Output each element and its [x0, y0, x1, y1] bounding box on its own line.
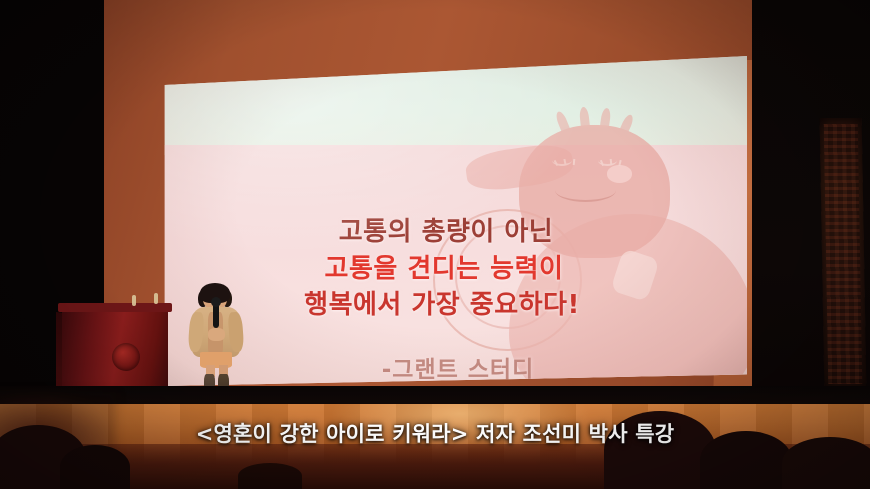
slide-line-2: 고통을 견디는 능력이 [325, 251, 564, 288]
podium [56, 303, 174, 395]
slide-line-3: 행복에서 가장 중요하다! [304, 287, 580, 324]
podium-object-right [154, 293, 158, 304]
slide-text-block: 고통의 총량이 아닌 고통을 견디는 능력이 행복에서 가장 중요하다! -그랜… [163, 56, 747, 386]
audience-head [700, 431, 792, 489]
podium-top-surface [58, 303, 172, 312]
podium-emblem [112, 343, 140, 371]
podium-object-left [132, 295, 136, 306]
projection-screen: 고통의 총량이 아닌 고통을 견디는 능력이 행복에서 가장 중요하다! -그랜… [163, 56, 747, 386]
microphone-icon [213, 302, 219, 328]
decorative-banner [820, 118, 867, 390]
lecture-photo-frame: 고통의 총량이 아닌 고통을 견디는 능력이 행복에서 가장 중요하다! -그랜… [0, 0, 870, 489]
audience-head [782, 437, 870, 489]
audience-head [60, 445, 130, 489]
speaker-hands [208, 328, 225, 341]
slide-line-1: 고통의 총량이 아닌 [339, 214, 553, 251]
audience-head [238, 463, 302, 489]
